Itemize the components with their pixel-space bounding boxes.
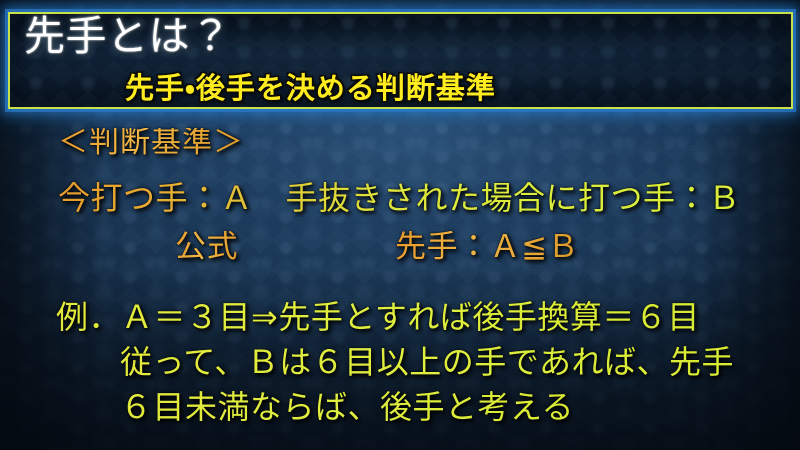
section-label-criteria: ＜判断基準＞	[58, 128, 244, 158]
example-line-2: 従って、Ｂは６目以上の手であれば、先手	[120, 346, 734, 378]
slide-canvas: 先手とは？ 先手・後手を決める判断基準 ＜判断基準＞ 今打つ手：Ａ 手抜きされた…	[0, 0, 800, 450]
example-line-3: ６目未満ならば、後手と考える	[120, 391, 574, 423]
slide-body: ＜判断基準＞ 今打つ手：Ａ 手抜きされた場合に打つ手：Ｂ 公式 先手：Ａ≦Ｂ 例…	[0, 109, 800, 450]
formula-value: 先手：Ａ≦Ｂ	[395, 231, 579, 262]
example-line-1: 例．Ａ＝３目⇒先手とすれば後手換算＝６目	[56, 301, 700, 333]
title-plate: 先手とは？ 先手・後手を決める判断基準	[8, 12, 793, 109]
page-title: 先手とは？	[24, 15, 232, 58]
page-subtitle: 先手・後手を決める判断基準	[125, 74, 496, 104]
formula-label: 公式	[175, 231, 238, 262]
definition-line: 今打つ手：Ａ 手抜きされた場合に打つ手：Ｂ	[58, 182, 741, 214]
